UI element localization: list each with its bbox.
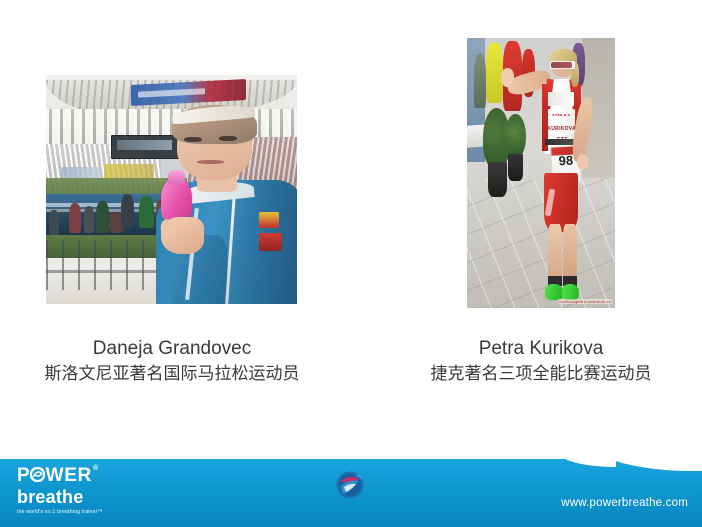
logo-letters-wer: WER [46,465,92,486]
powerbreathe-device-pink [161,178,191,222]
running-shoe [562,284,580,300]
daneja-grandovec-photo[interactable] [46,75,297,304]
device-mouthpiece [168,170,186,184]
logo-word-breathe: breathe [17,488,137,506]
crowd-silhouette [84,206,94,233]
paved-street [467,178,615,308]
logo-letter-o-swirl: O [30,466,45,485]
footer-swoosh-decoration-small [560,459,616,467]
team-badge [259,233,282,251]
logo-word-power: POWER® [17,466,92,485]
scoreboard [111,135,178,160]
sunglasses-lens [551,62,572,68]
athlete-description-right: 捷克著名三项全能比赛运动员 [380,362,702,386]
plant-pot [508,154,523,181]
stadium-scene [46,75,297,304]
running-shoe [545,284,563,300]
athlete-eye [219,136,237,141]
crowd-silhouette [96,201,109,233]
athlete-eye [184,137,202,142]
logo-letter-p: P [17,465,30,486]
caption-daneja-grandovec: Daneja Grandovec 斯洛文尼亚著名国际马拉松运动员 [14,336,330,385]
kit-athlete-name: KURIKOVA [547,119,577,130]
photo-watermark: kurikovapetra.webnode.cz [558,299,612,304]
athlete-description-left: 斯洛文尼亚著名国际马拉松运动员 [14,362,330,386]
petra-kurikova-photo[interactable]: erika a.s. KURIKOVA CZE 98 kur [467,38,615,308]
photographer-silhouette [121,194,134,228]
athlete-name-right: Petra Kurikova [380,336,702,362]
powerbreathe-swirl-mark [335,470,365,500]
spectator [486,43,502,102]
logo-tagline: the world's no.1 breathing trainer™ [17,509,137,515]
athlete-name-left: Daneja Grandovec [14,336,330,362]
kit-sponsor-text: erika a.s. [548,108,575,117]
slide-canvas: erika a.s. KURIKOVA CZE 98 kur [0,0,702,527]
trisuit-chest-panel [548,92,573,106]
athlete-raised-hand [501,68,514,87]
powerbreathe-logo[interactable]: POWER® breathe the world's no.1 breathin… [17,466,137,518]
crowd-silhouette [69,203,82,233]
spectator [474,54,486,108]
registered-trademark-icon: ® [93,465,99,472]
caption-petra-kurikova: Petra Kurikova 捷克著名三项全能比赛运动员 [380,336,702,385]
triathlon-scene: erika a.s. KURIKOVA CZE 98 kur [467,38,615,308]
crowd-silhouette [49,210,59,235]
plant-pot [488,162,507,197]
website-url[interactable]: www.powerbreathe.com [561,497,688,509]
team-badge [259,212,279,228]
photographer-silhouette [139,196,154,228]
